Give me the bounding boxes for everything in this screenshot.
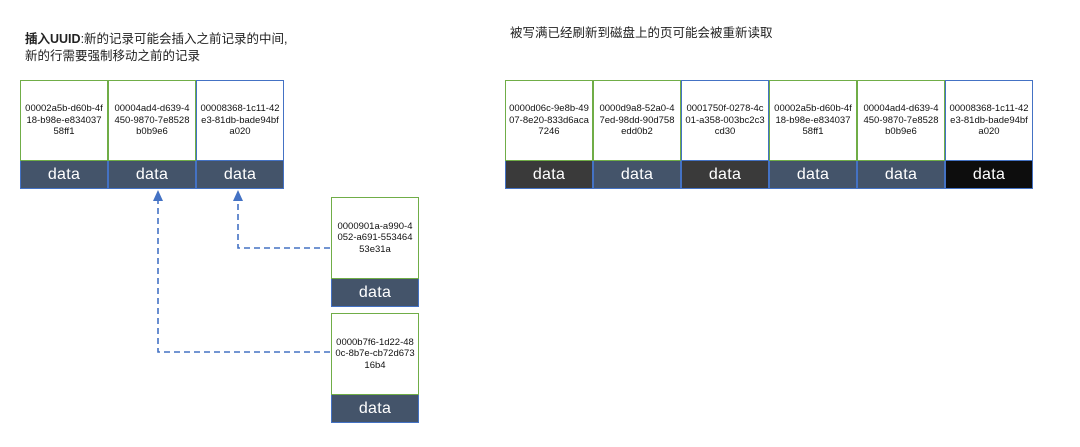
- data-cell: data: [593, 161, 681, 189]
- caption-left-bold: 插入UUID: [25, 32, 81, 46]
- table-column: 00002a5b-d60b-4f18-b98e-e83403758ff1 dat…: [20, 80, 108, 189]
- uuid-cell: 00008368-1c11-42e3-81db-bade94bfa020: [945, 80, 1033, 161]
- floating-record-upper: 0000901a-a990-4052-a691-55346453e31a dat…: [331, 197, 419, 307]
- table-column: 00008368-1c11-42e3-81db-bade94bfa020 dat…: [196, 80, 284, 189]
- connector-line-upper: [238, 200, 330, 248]
- table-column: 00004ad4-d639-4450-9870-7e8528b0b9e6 dat…: [857, 80, 945, 189]
- right-record-table: 0000d06c-9e8b-4907-8e20-833d6aca7246 dat…: [505, 80, 1033, 189]
- diagram-canvas: 插入UUID:新的记录可能会插入之前记录的中间, 新的行需要强制移动之前的记录 …: [0, 0, 1080, 447]
- caption-page-reread: 被写满已经刷新到磁盘上的页可能会被重新读取: [510, 25, 930, 42]
- arrowhead-lower: [153, 190, 163, 201]
- uuid-cell: 00002a5b-d60b-4f18-b98e-e83403758ff1: [20, 80, 108, 161]
- uuid-cell: 00008368-1c11-42e3-81db-bade94bfa020: [196, 80, 284, 161]
- uuid-cell: 0000d06c-9e8b-4907-8e20-833d6aca7246: [505, 80, 593, 161]
- left-record-table: 00002a5b-d60b-4f18-b98e-e83403758ff1 dat…: [20, 80, 284, 189]
- table-column: 00002a5b-d60b-4f18-b98e-e83403758ff1 dat…: [769, 80, 857, 189]
- uuid-cell: 0001750f-0278-4c01-a358-003bc2c3cd30: [681, 80, 769, 161]
- data-cell: data: [857, 161, 945, 189]
- connector-line-lower: [158, 200, 330, 352]
- data-cell: data: [769, 161, 857, 189]
- connector-arrows: [0, 0, 1080, 447]
- data-cell: data: [108, 161, 196, 189]
- data-cell: data: [681, 161, 769, 189]
- arrowhead-upper: [233, 190, 243, 201]
- table-column: 00004ad4-d639-4450-9870-7e8528b0b9e6 dat…: [108, 80, 196, 189]
- caption-insert-uuid: 插入UUID:新的记录可能会插入之前记录的中间, 新的行需要强制移动之前的记录: [25, 14, 355, 65]
- table-column: 0001750f-0278-4c01-a358-003bc2c3cd30 dat…: [681, 80, 769, 189]
- uuid-cell: 0000901a-a990-4052-a691-55346453e31a: [331, 197, 419, 279]
- uuid-cell: 0000b7f6-1d22-480c-8b7e-cb72d67316b4: [331, 313, 419, 395]
- table-column: 0000d9a8-52a0-47ed-98dd-90d758edd0b2 dat…: [593, 80, 681, 189]
- uuid-cell: 00004ad4-d639-4450-9870-7e8528b0b9e6: [857, 80, 945, 161]
- table-column: 00008368-1c11-42e3-81db-bade94bfa020 dat…: [945, 80, 1033, 189]
- data-cell: data: [196, 161, 284, 189]
- data-cell: data: [945, 161, 1033, 189]
- uuid-cell: 0000d9a8-52a0-47ed-98dd-90d758edd0b2: [593, 80, 681, 161]
- floating-record-lower: 0000b7f6-1d22-480c-8b7e-cb72d67316b4 dat…: [331, 313, 419, 423]
- data-cell: data: [331, 279, 419, 307]
- data-cell: data: [505, 161, 593, 189]
- uuid-cell: 00004ad4-d639-4450-9870-7e8528b0b9e6: [108, 80, 196, 161]
- data-cell: data: [20, 161, 108, 189]
- table-column: 0000d06c-9e8b-4907-8e20-833d6aca7246 dat…: [505, 80, 593, 189]
- data-cell: data: [331, 395, 419, 423]
- uuid-cell: 00002a5b-d60b-4f18-b98e-e83403758ff1: [769, 80, 857, 161]
